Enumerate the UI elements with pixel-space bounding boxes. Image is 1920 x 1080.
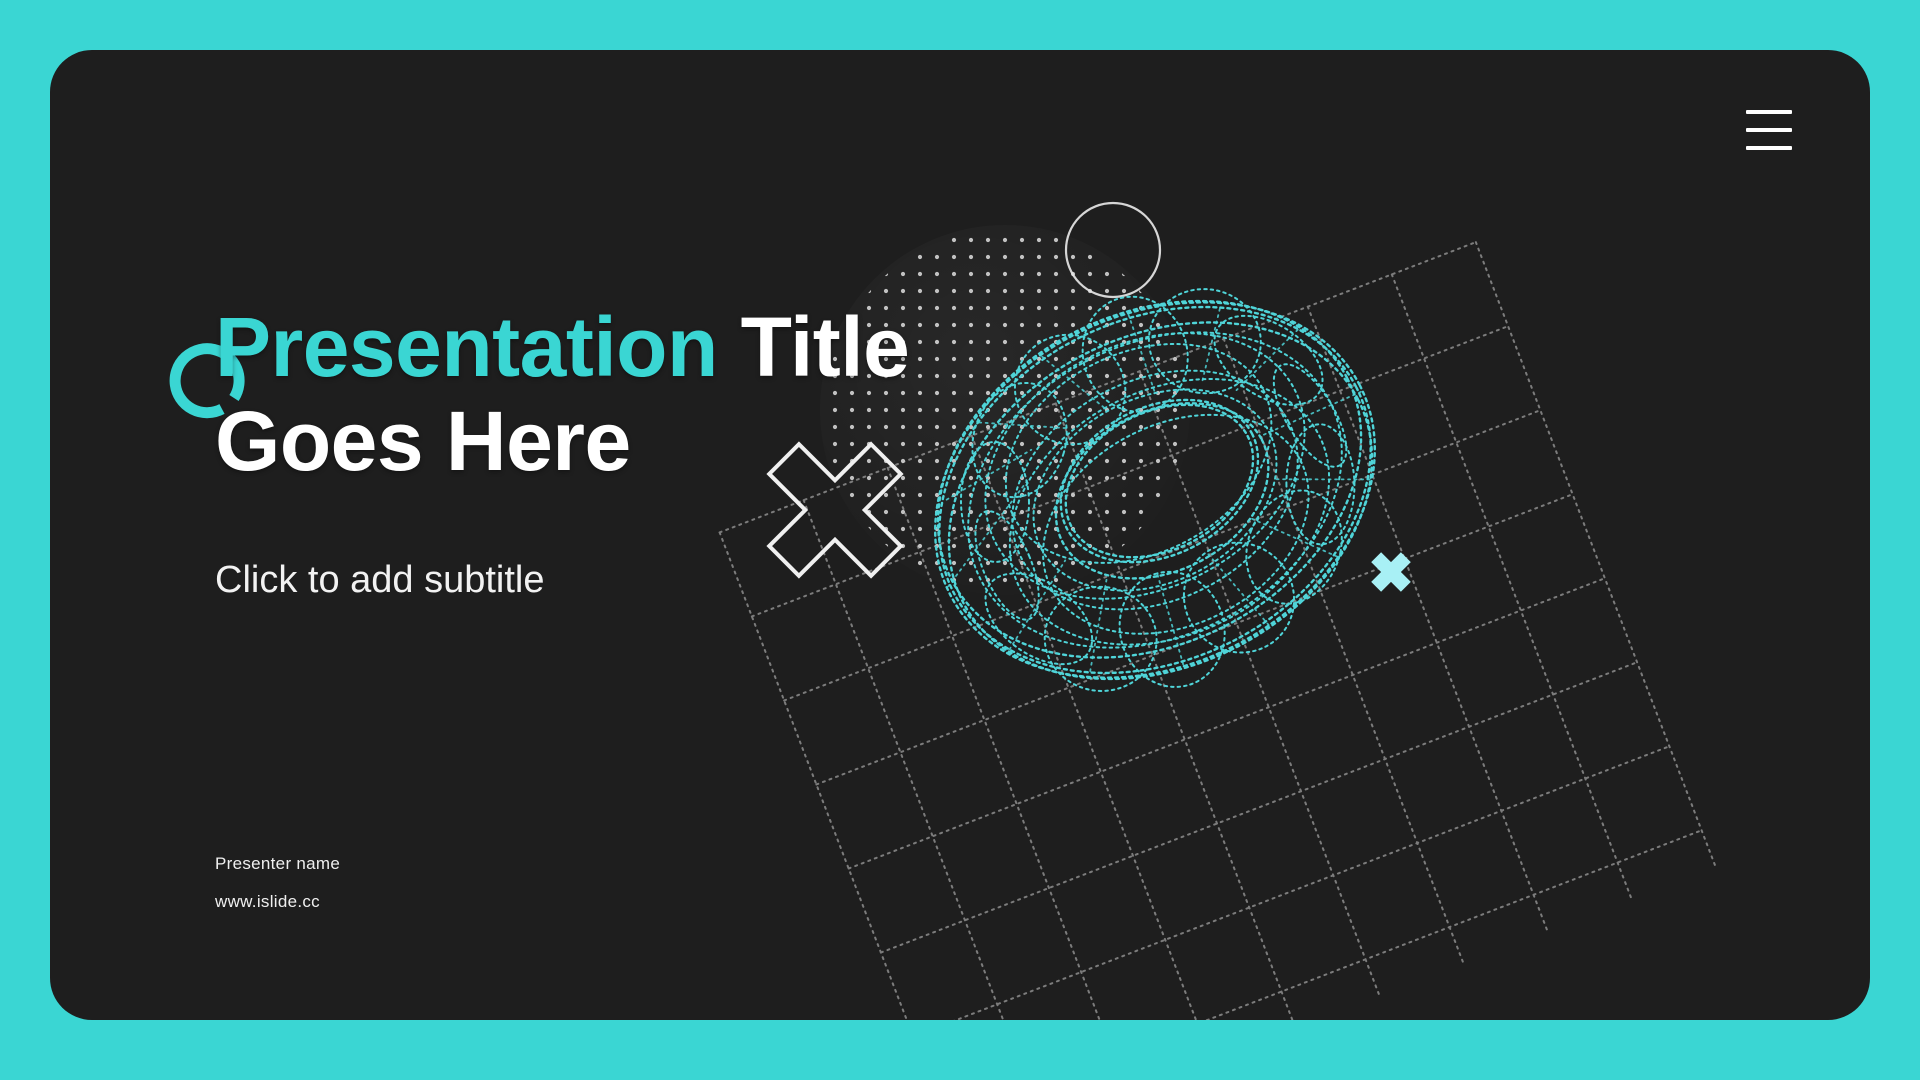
menu-bar-middle — [1746, 128, 1792, 132]
website-link[interactable]: www.islide.cc — [215, 892, 340, 912]
page-title-accent: Presentation — [215, 300, 718, 394]
subtitle-placeholder[interactable]: Click to add subtitle — [164, 559, 909, 602]
slide-stage: Presentation Title Goes Here Click to ad… — [0, 0, 1920, 1080]
torus-wireframe — [859, 206, 1453, 777]
hamburger-menu-icon[interactable] — [1746, 110, 1792, 150]
circle-outline — [1066, 203, 1160, 297]
presenter-name[interactable]: Presenter name — [215, 854, 340, 874]
menu-bar-top — [1746, 110, 1792, 114]
page-title[interactable]: Presentation Title Goes Here — [164, 300, 909, 488]
title-block: Presentation Title Goes Here Click to ad… — [164, 300, 909, 602]
small-cross-filled — [1361, 542, 1420, 601]
menu-bar-bottom — [1746, 146, 1792, 150]
slide-card: Presentation Title Goes Here Click to ad… — [50, 50, 1870, 1020]
footer-block: Presenter name www.islide.cc — [215, 854, 340, 912]
